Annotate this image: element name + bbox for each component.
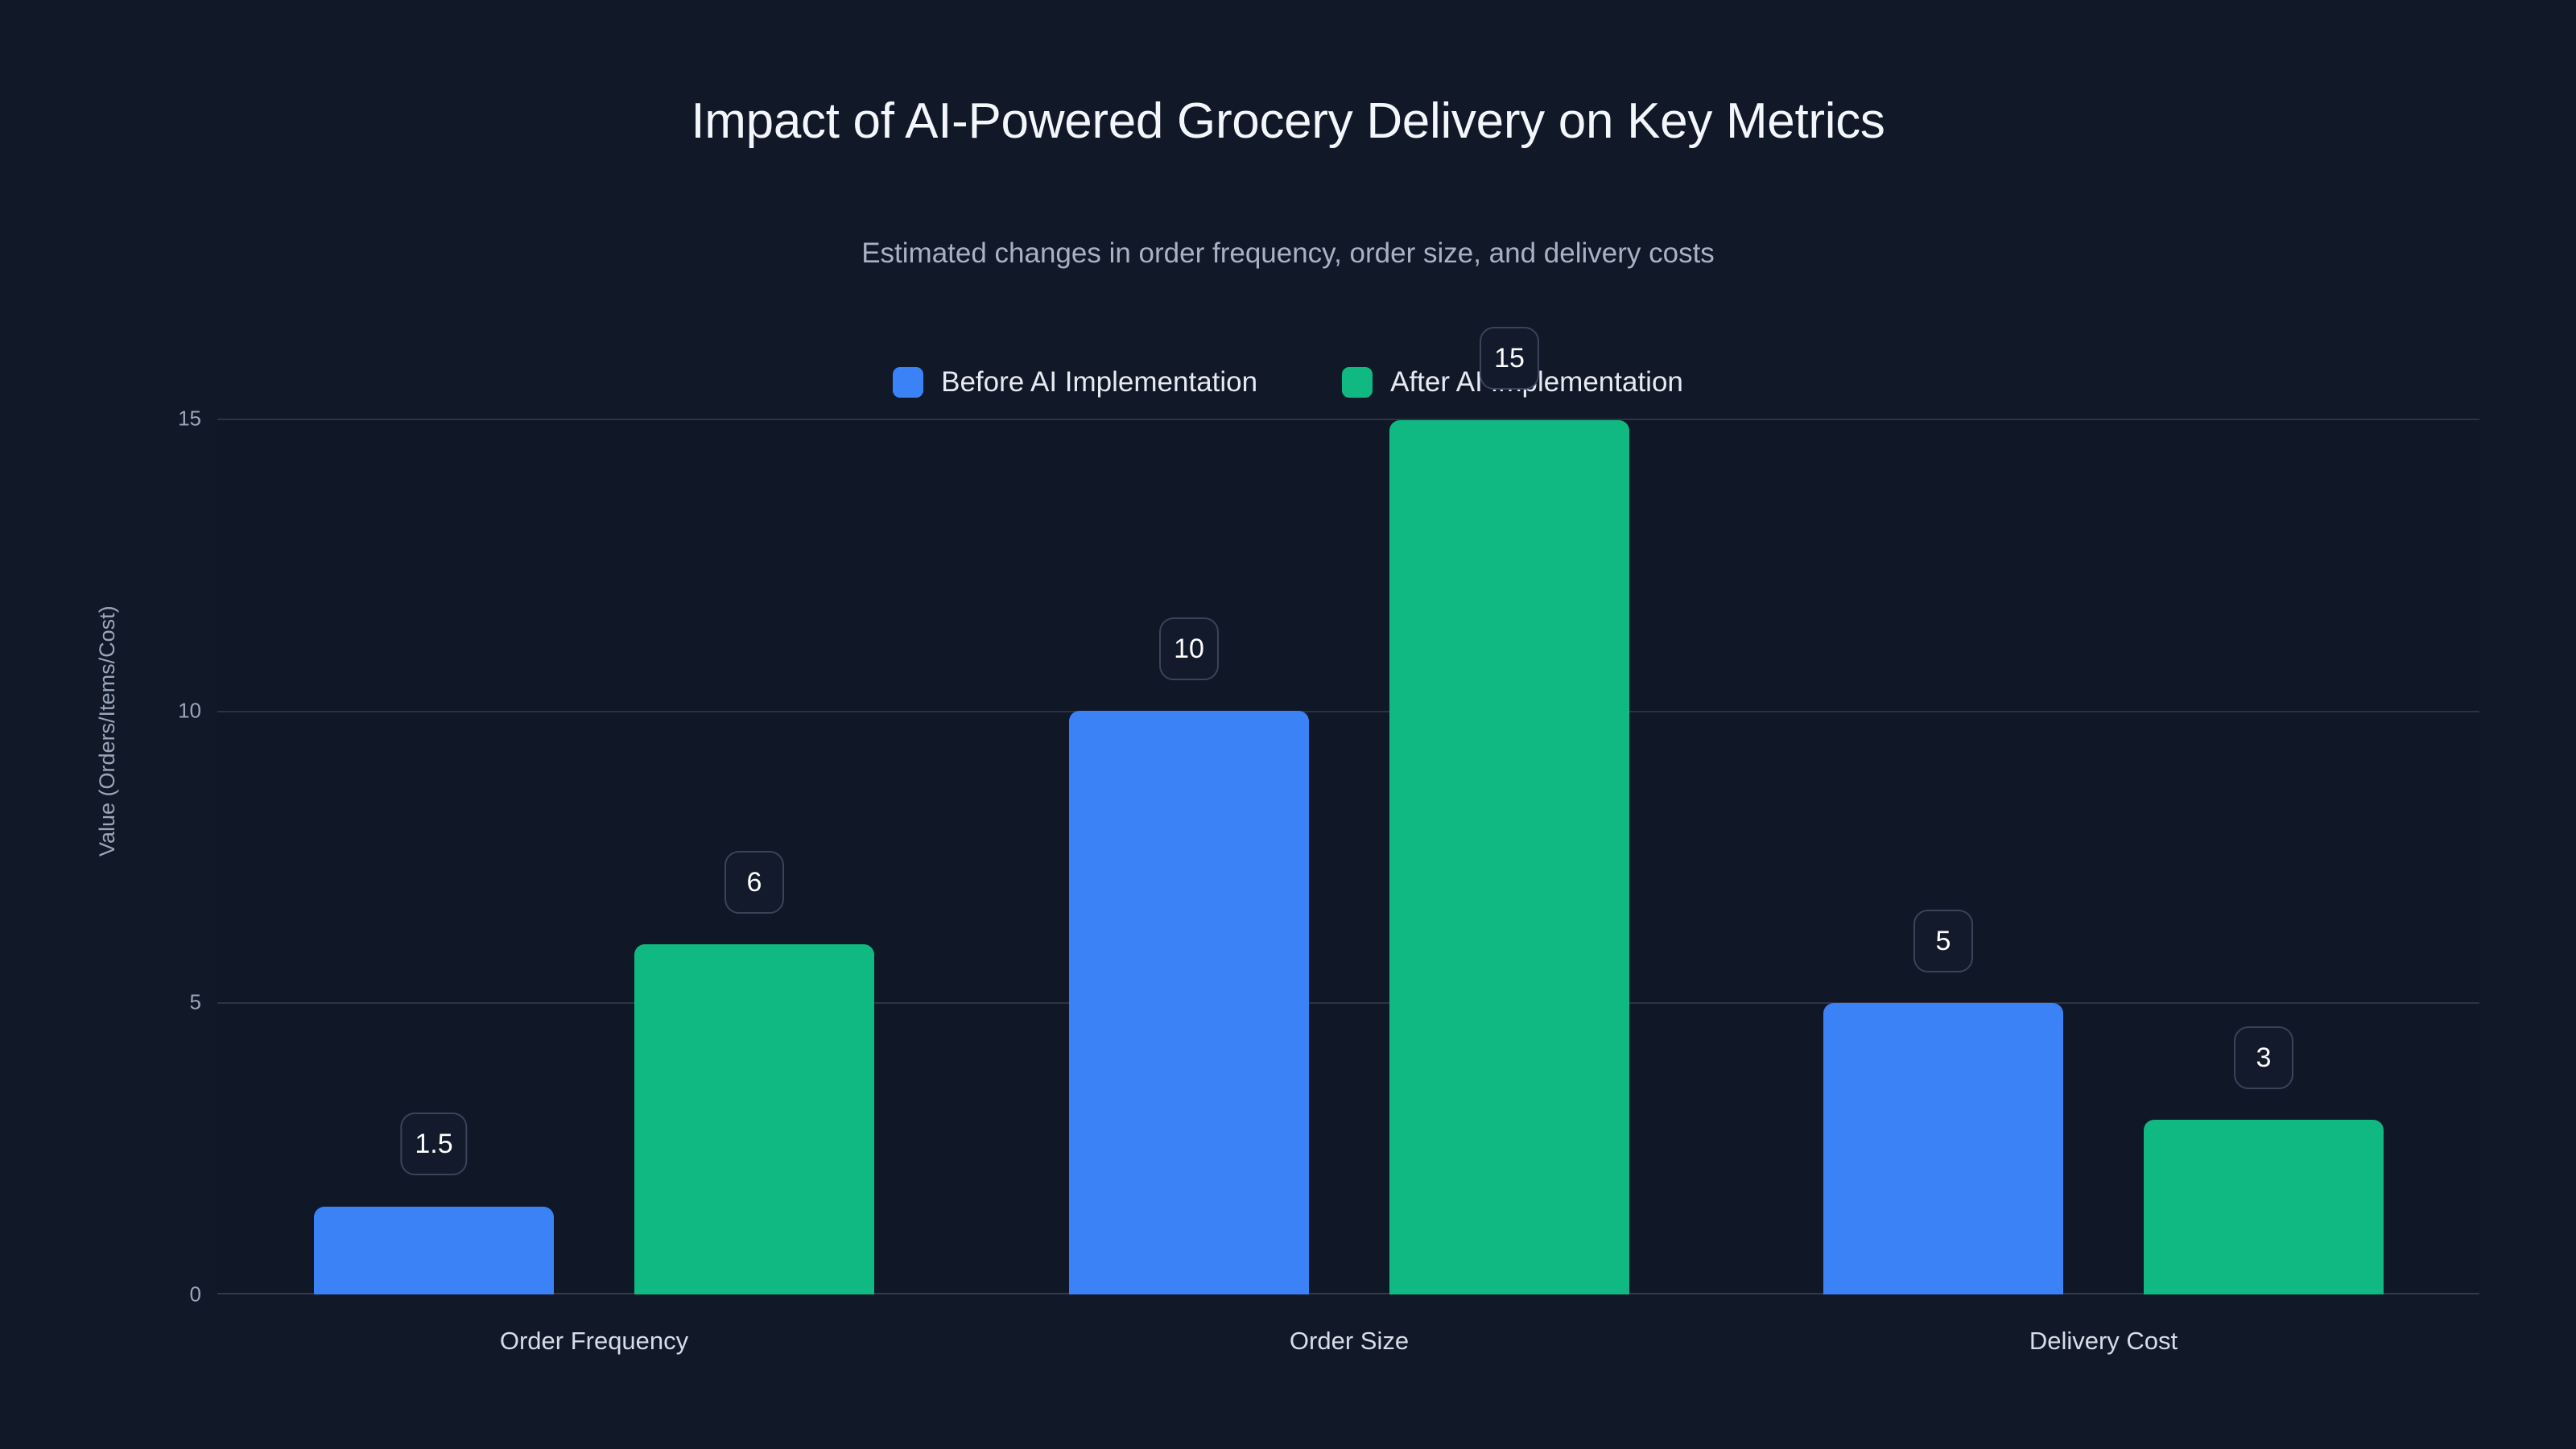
legend-item-before[interactable]: Before AI Implementation [893, 366, 1257, 398]
bar-delivery-cost-after[interactable] [2144, 1120, 2384, 1294]
legend-swatch-icon-before [893, 367, 923, 398]
legend-swatch-icon-after [1342, 367, 1373, 398]
x-tick-order-size: Order Size [1290, 1327, 1409, 1356]
gridline-10 [217, 711, 2479, 712]
bar-order-size-before[interactable] [1069, 711, 1309, 1294]
y-tick-5: 5 [105, 990, 201, 1015]
value-badge-order-size-before: 10 [1159, 617, 1219, 680]
legend-label-before: Before AI Implementation [941, 366, 1257, 398]
bar-order-frequency-after[interactable] [634, 944, 874, 1294]
y-axis-title: Value (Orders/Items/Cost) [95, 605, 120, 857]
chart-legend: Before AI Implementation After AI Implem… [0, 366, 2576, 398]
bar-delivery-cost-before[interactable] [1823, 1003, 2063, 1294]
bar-order-frequency-before[interactable] [314, 1207, 554, 1294]
value-badge-delivery-cost-before: 5 [1913, 910, 1973, 972]
x-axis-line [217, 1293, 2479, 1294]
value-badge-delivery-cost-after: 3 [2234, 1026, 2293, 1089]
value-badge-order-frequency-after: 6 [724, 851, 784, 914]
y-tick-0: 0 [105, 1282, 201, 1307]
x-tick-order-frequency: Order Frequency [500, 1327, 688, 1356]
y-tick-15: 15 [105, 407, 201, 431]
x-tick-delivery-cost: Delivery Cost [2029, 1327, 2178, 1356]
value-badge-order-size-after: 15 [1480, 327, 1539, 390]
bar-order-size-after[interactable] [1389, 420, 1629, 1294]
plot-area [217, 419, 2479, 1294]
value-badge-order-frequency-before: 1.5 [400, 1113, 467, 1175]
gridline-5 [217, 1002, 2479, 1004]
chart-canvas: Impact of AI-Powered Grocery Delivery on… [0, 0, 2576, 1449]
chart-title: Impact of AI-Powered Grocery Delivery on… [0, 93, 2576, 150]
gridline-15 [217, 419, 2479, 420]
chart-subtitle: Estimated changes in order frequency, or… [0, 237, 2576, 270]
